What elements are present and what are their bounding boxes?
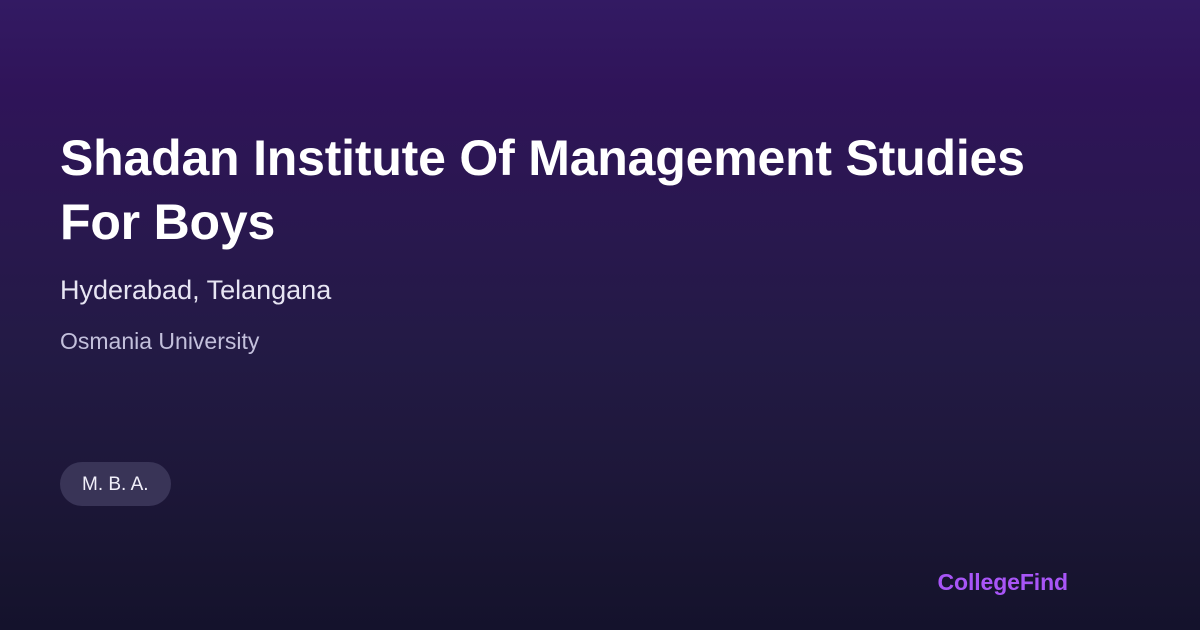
course-tag-list: M. B. A.: [60, 462, 171, 506]
college-share-card: Shadan Institute Of Management Studies F…: [0, 0, 1200, 630]
brand-logo-text: CollegeFind: [937, 568, 1068, 596]
card-content: Shadan Institute Of Management Studies F…: [60, 0, 1140, 630]
course-tag-mba: M. B. A.: [60, 462, 171, 506]
college-location: Hyderabad, Telangana: [60, 272, 1060, 308]
college-affiliation: Osmania University: [60, 325, 1060, 357]
page-title: Shadan Institute Of Management Studies F…: [60, 126, 1038, 254]
